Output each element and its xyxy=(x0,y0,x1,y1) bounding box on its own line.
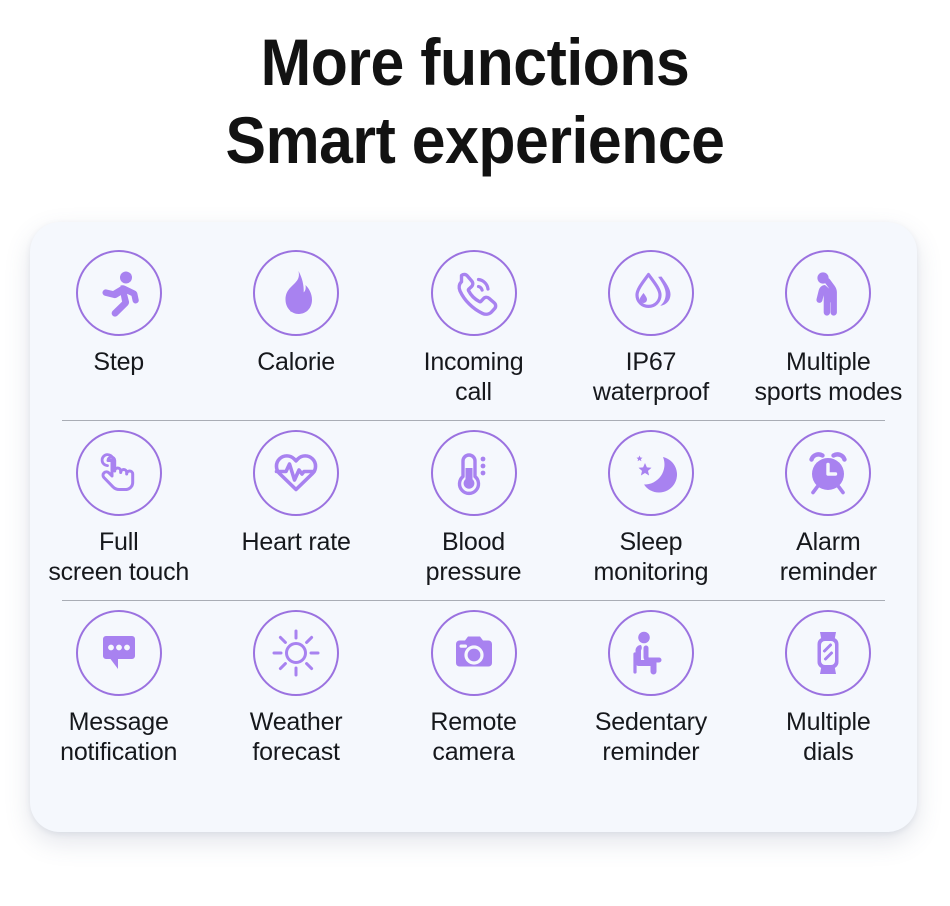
chat-bubble-icon xyxy=(76,610,162,696)
feature-item-blood-pressure[interactable]: Blood pressure xyxy=(385,430,562,610)
feature-item-alarm-reminder[interactable]: Alarm reminder xyxy=(740,430,917,610)
feature-item-full-screen-touch[interactable]: Full screen touch xyxy=(30,430,207,610)
feature-label: Weather forecast xyxy=(250,707,343,767)
sitting-person-icon xyxy=(608,610,694,696)
feature-row-2: Full screen touch Heart rate xyxy=(30,430,917,610)
feature-item-sedentary-reminder[interactable]: Sedentary reminder xyxy=(562,610,739,790)
water-drop-icon xyxy=(608,250,694,336)
feature-item-waterproof[interactable]: IP67 waterproof xyxy=(562,250,739,430)
feature-item-sports-modes[interactable]: Multiple sports modes xyxy=(740,250,917,430)
thermometer-icon xyxy=(431,430,517,516)
stretching-person-icon xyxy=(785,250,871,336)
feature-label: Multiple dials xyxy=(786,707,871,767)
feature-label: Incoming call xyxy=(424,347,524,407)
feature-label: Full screen touch xyxy=(48,527,189,587)
feature-label: Alarm reminder xyxy=(780,527,877,587)
feature-item-weather-forecast[interactable]: Weather forecast xyxy=(207,610,384,790)
features-grid: Step Calorie Incoming xyxy=(30,222,917,832)
feature-item-heart-rate[interactable]: Heart rate xyxy=(207,430,384,610)
feature-item-step[interactable]: Step xyxy=(30,250,207,430)
touch-hand-icon xyxy=(76,430,162,516)
sun-icon xyxy=(253,610,339,696)
page-title-line-2: Smart experience xyxy=(38,102,912,180)
feature-item-calorie[interactable]: Calorie xyxy=(207,250,384,430)
feature-label: IP67 waterproof xyxy=(593,347,709,407)
heart-pulse-icon xyxy=(253,430,339,516)
feature-item-message-notification[interactable]: Message notification xyxy=(30,610,207,790)
phone-call-icon xyxy=(431,250,517,336)
feature-label: Heart rate xyxy=(242,527,351,557)
feature-label: Step xyxy=(93,347,144,377)
camera-icon xyxy=(431,610,517,696)
feature-label: Sedentary reminder xyxy=(595,707,707,767)
feature-item-remote-camera[interactable]: Remote camera xyxy=(385,610,562,790)
feature-item-multiple-dials[interactable]: Multiple dials xyxy=(740,610,917,790)
smartwatch-icon xyxy=(785,610,871,696)
running-person-icon xyxy=(76,250,162,336)
feature-label: Blood pressure xyxy=(426,527,522,587)
page-title: More functions Smart experience xyxy=(38,24,912,180)
flame-icon xyxy=(253,250,339,336)
alarm-clock-icon xyxy=(785,430,871,516)
feature-row-3: Message notification xyxy=(30,610,917,790)
feature-label: Remote camera xyxy=(430,707,516,767)
feature-item-incoming-call[interactable]: Incoming call xyxy=(385,250,562,430)
feature-label: Sleep monitoring xyxy=(594,527,709,587)
feature-label: Message notification xyxy=(60,707,177,767)
page-title-line-1: More functions xyxy=(38,24,912,102)
feature-row-1: Step Calorie Incoming xyxy=(30,250,917,430)
feature-label: Multiple sports modes xyxy=(754,347,902,407)
feature-item-sleep-monitoring[interactable]: Sleep monitoring xyxy=(562,430,739,610)
features-card: Step Calorie Incoming xyxy=(30,222,917,832)
feature-label: Calorie xyxy=(257,347,335,377)
moon-stars-icon xyxy=(608,430,694,516)
